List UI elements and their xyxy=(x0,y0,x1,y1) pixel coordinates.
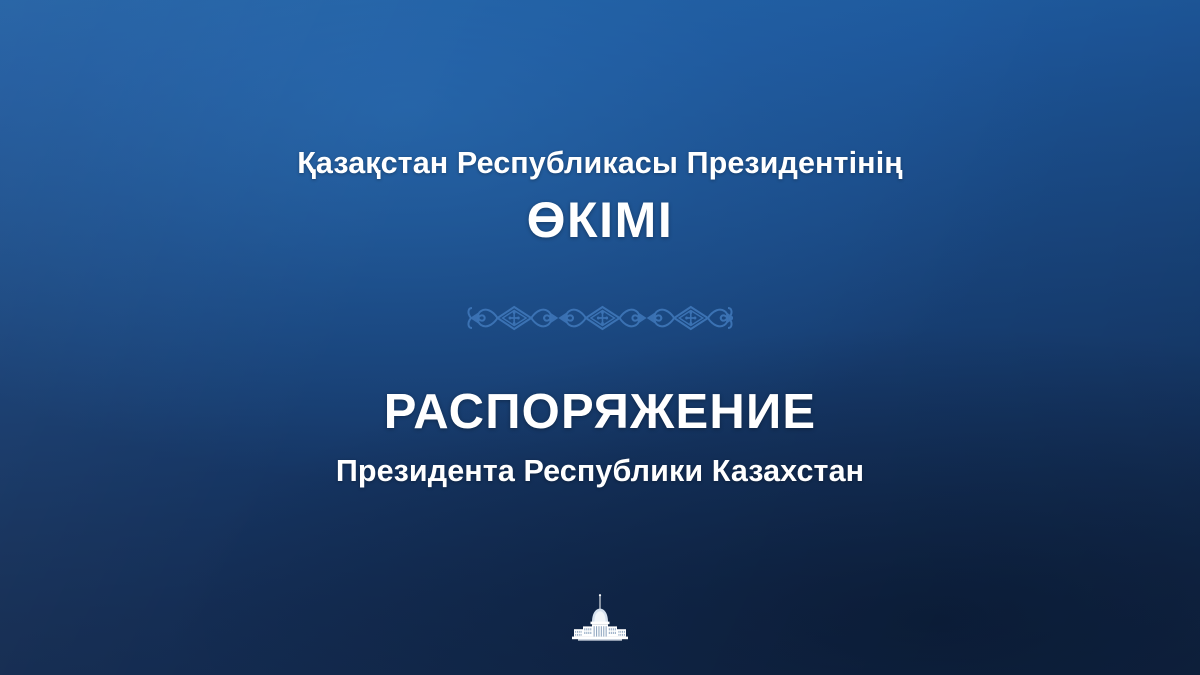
kazakh-ornament-divider xyxy=(467,296,733,340)
kazakh-subtitle: Қазақстан Республикасы Президентінің xyxy=(297,146,903,182)
kazakh-heading-block: Қазақстан Республикасы Президентінің ӨКІ… xyxy=(297,146,903,248)
decree-title-card: Қазақстан Республикасы Президентінің ӨКІ… xyxy=(0,0,1200,675)
russian-subtitle: Президента Республики Казахстан xyxy=(336,454,864,490)
card-content: Қазақстан Республикасы Президентінің ӨКІ… xyxy=(0,0,1200,675)
kazakh-title: ӨКІМІ xyxy=(527,193,674,248)
russian-title: РАСПОРЯЖЕНИЕ xyxy=(384,386,817,440)
russian-heading-block: РАСПОРЯЖЕНИЕ Президента Республики Казах… xyxy=(336,386,864,490)
